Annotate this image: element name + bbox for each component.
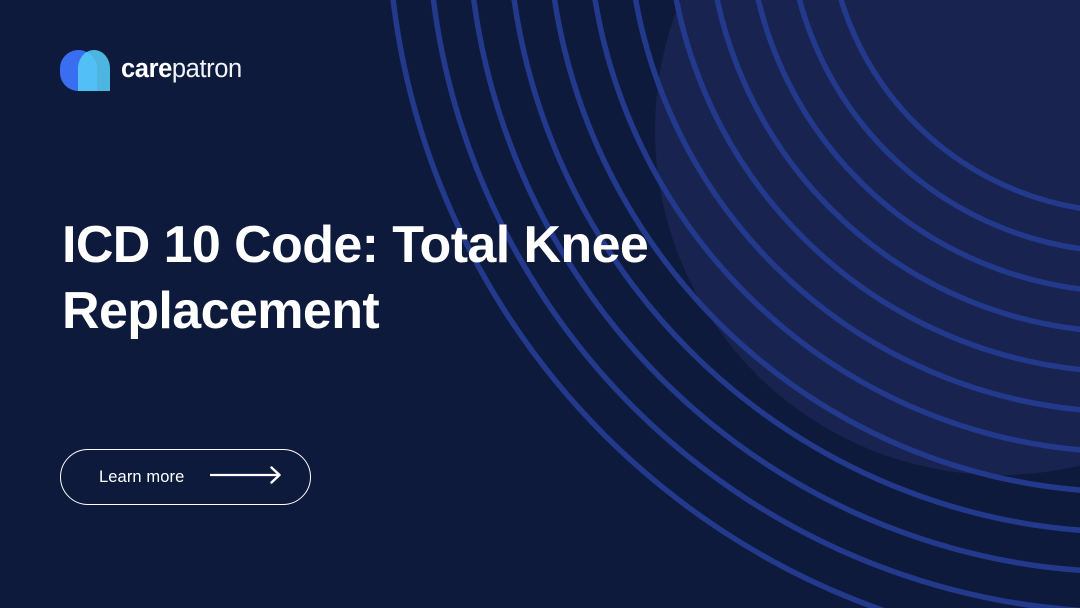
- learn-more-button[interactable]: Learn more: [60, 449, 311, 505]
- arrow-right-icon: [210, 466, 284, 489]
- carepatron-banner: carepatron ICD 10 Code: Total Knee Repla…: [0, 0, 1080, 608]
- carepatron-wordmark: carepatron: [121, 57, 242, 85]
- learn-more-label: Learn more: [99, 469, 184, 486]
- logo-shape-cyan: [78, 50, 110, 91]
- carepatron-logo-mark: [60, 50, 110, 91]
- page-title: ICD 10 Code: Total Knee Replacement: [62, 212, 682, 344]
- decorative-circle: [655, 0, 1080, 475]
- carepatron-logo[interactable]: carepatron: [60, 50, 242, 91]
- wordmark-patron: patron: [172, 55, 242, 83]
- wordmark-care: care: [121, 55, 172, 83]
